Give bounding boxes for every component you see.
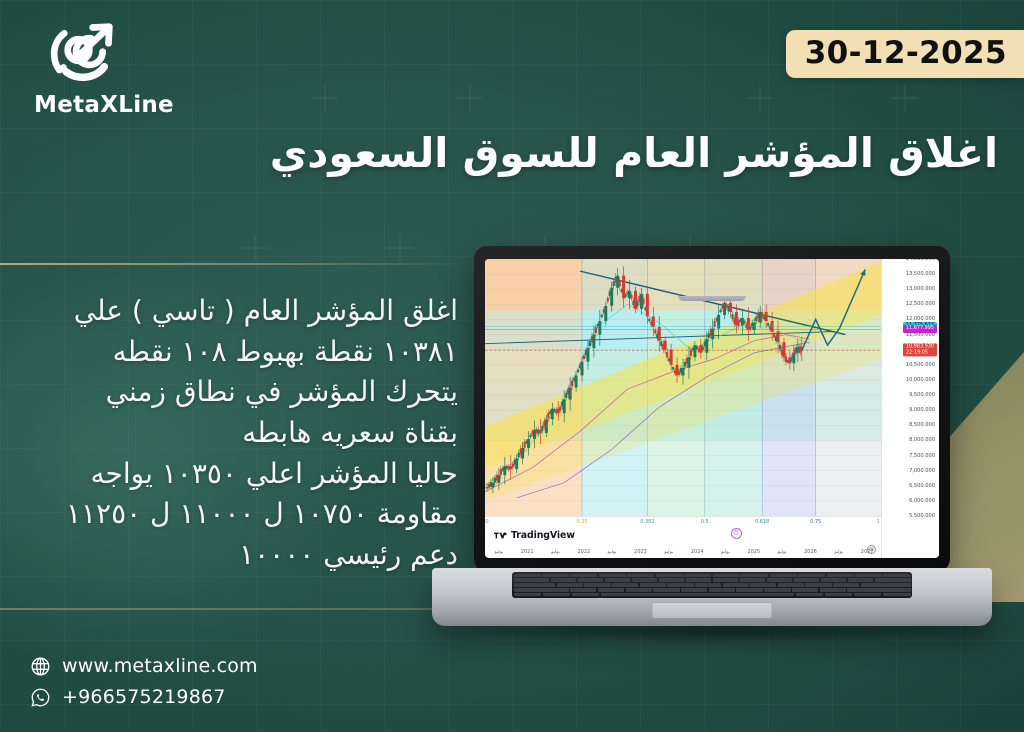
keyboard-key [572,593,600,597]
laptop-keyboard [512,572,912,598]
time-axis-tick: 2026 [804,549,817,555]
fib-level-label: 0.5 [701,519,709,525]
keyboard-key [855,574,882,578]
body-line: مقاومة ١٠٧٥٠ ل ١١٠٠٠ ل ١١٢٥٠ [14,495,458,534]
time-axis-tick: 2022 [577,549,590,555]
price-badge[interactable]: 10,983.93022:19:05 [903,344,937,357]
time-axis-tick: يوليو [608,550,617,555]
divider-line-upper [0,263,470,265]
time-axis-tick: 2025 [747,549,760,555]
keyboard-key [764,588,790,592]
time-axis-tick: يوليو [778,550,787,555]
time-axis-tick: يوليو [494,550,503,555]
keyboard-key [695,583,721,587]
time-axis-tick: يوليو [721,550,730,555]
price-axis-tick: 12,500.000 [906,301,935,307]
keyboard-key [659,578,685,582]
keyboard-key [627,574,654,578]
keyboard-key [740,578,766,582]
keyboard-key [667,583,693,587]
tradingview-label: TradingView [511,530,575,541]
price-axis-tick: 14,000.000 [906,259,935,262]
keyboard-key [514,593,542,597]
price-axis-tick: 6,500.000 [909,483,935,489]
keyboard-key [750,583,776,587]
keyboard-key [825,593,853,597]
keyboard-key [709,588,735,592]
keyboard-key [584,583,610,587]
brand-logo: MetaXLine [34,20,164,118]
keyboard-row [514,578,911,582]
keyboard-key [778,583,804,587]
price-axis-tick: 6,000.000 [909,498,935,504]
keyboard-key [713,574,740,578]
price-axis-tick: 7,000.000 [909,468,935,474]
body-line: دعم رئيسي ١٠٠٠٠ [14,536,458,575]
keyboard-key [570,574,597,578]
body-line: ١٠٣٨١ نقطة بهبوط ١٠٨ نقطه [14,333,458,372]
poster-root: MetaXLine 30-12-2025 اغلاق المؤشر العام … [0,0,1024,732]
body-line: يتحرك المؤشر في نطاق زمني [14,373,458,412]
price-axis-tick: 10,000.000 [906,377,935,383]
date-badge: 30-12-2025 [786,30,1024,78]
time-axis-tick: يوليو [834,550,843,555]
keyboard-key [514,588,569,592]
fib-level-label: 0.75 [810,519,821,525]
phone-label: +966575219867 [62,686,226,708]
keyboard-key [713,578,739,582]
time-axis-tick: 2021 [521,549,534,555]
keyboard-key [833,583,859,587]
keyboard-key [848,578,874,582]
fib-level-label: 0.382 [640,519,654,525]
globe-icon [30,656,51,677]
laptop-front-notch [678,296,746,301]
price-axis-tick: 8,000.000 [909,437,935,443]
keyboard-key [551,578,577,582]
keyboard-key [847,588,910,592]
keyboard-key [543,593,571,597]
fib-level-label: 0.618 [755,519,769,525]
keyboard-key [875,578,911,582]
time-axis-tick: 2023 [634,549,647,555]
phone-row[interactable]: +966575219867 [30,686,258,708]
keyboard-key [820,588,846,592]
keyboard-key [821,578,847,582]
keyboard-key [578,578,604,582]
keyboard-key [514,578,550,582]
tradingview-chart[interactable]: 14,000.00013,500.00013,000.00012,500.000… [485,259,939,558]
fib-level-label: 0 [485,519,488,525]
keyboard-key [605,578,631,582]
keyboard-key [656,574,683,578]
keyboard-row [514,593,911,597]
fib-level-label: 1 [877,519,880,525]
keyboard-key [883,593,911,597]
keyboard-key [598,588,624,592]
price-axis-tick: 8,500.000 [909,422,935,428]
keyboard-key [632,578,658,582]
alert-icon[interactable]: ⏱ [731,528,742,539]
keyboard-row [514,583,911,587]
keyboard-key [792,588,818,592]
laptop-screen: 14,000.00013,500.00013,000.00012,500.000… [485,259,939,558]
body-line: اغلق المؤشر العام ( تاسي ) علي [14,292,458,331]
keyboard-key [794,578,820,582]
keyboard-key [805,583,831,587]
keyboard-key [723,583,749,587]
keyboard-row [514,574,911,578]
footer-contact: www.metaxline.com +966575219867 [30,655,258,708]
price-axis-tick: 5,500.000 [909,513,935,519]
price-axis-tick: 9,000.000 [909,407,935,413]
keyboard-key [599,574,626,578]
website-label: www.metaxline.com [62,655,258,677]
whatsapp-icon [30,687,51,708]
keyboard-key [557,583,583,587]
body-copy: اغلق المؤشر العام ( تاسي ) علي ١٠٣٨١ نقط… [14,292,458,576]
time-axis-tick: يوليو [551,550,560,555]
body-line: حاليا المؤشر اعلي ١٠٣٥٠ يواجه [14,455,458,494]
keyboard-key [883,574,910,578]
keyboard-key [570,588,596,592]
keyboard-key [653,588,679,592]
keyboard-row [514,588,911,592]
price-axis-tick: 13,000.000 [906,286,935,292]
keyboard-key [612,583,638,587]
time-axis-tick: يوليو [664,550,673,555]
keyboard-key [767,578,793,582]
brand-name: MetaXLine [34,92,164,118]
keyboard-key [681,588,707,592]
keyboard-key [861,583,911,587]
keyboard-key [626,588,652,592]
body-line: بقناة سعريه هابطه [14,414,458,453]
keyboard-key [770,574,797,578]
tradingview-mark-icon [494,531,507,540]
keyboard-key [601,593,795,597]
tradingview-logo: TradingView [494,530,575,541]
keyboard-key [736,588,762,592]
fibonacci-labels: 00.250.3820.50.6180.751 [485,519,881,527]
price-axis-tick: 13,500.000 [906,271,935,277]
fib-level-label: 0.25 [576,519,587,525]
price-badge[interactable]: 11,677.995 [903,325,937,333]
website-row[interactable]: www.metaxline.com [30,655,258,677]
laptop-trackpad [652,602,772,618]
keyboard-key [686,578,712,582]
keyboard-key [640,583,666,587]
keyboard-key [542,574,569,578]
keyboard-key [796,593,824,597]
keyboard-key [798,574,825,578]
time-axis-tick: 2027 [861,549,874,555]
price-axis[interactable]: 14,000.00013,500.00013,000.00012,500.000… [881,259,939,558]
laptop-base [432,568,992,626]
price-axis-tick: 7,500.000 [909,453,935,459]
keyboard-key [854,593,882,597]
time-axis-tick: 2024 [691,549,704,555]
page-title: اغلاق المؤشر العام للسوق السعودي [138,128,998,179]
laptop-mockup: 14,000.00013,500.00013,000.00012,500.000… [432,246,992,650]
laptop-lid: 14,000.00013,500.00013,000.00012,500.000… [474,246,950,572]
price-axis-tick: 10,500.000 [906,362,935,368]
keyboard-key [514,583,556,587]
price-axis-tick: 9,500.000 [909,392,935,398]
arc-arrow-logo-icon [38,20,124,90]
keyboard-key [514,574,541,578]
keyboard-key [741,574,768,578]
time-axis[interactable]: 00.250.3820.50.6180.751 TradingView ⏱ ⊗ … [485,516,881,558]
keyboard-key [827,574,854,578]
keyboard-key [684,574,711,578]
